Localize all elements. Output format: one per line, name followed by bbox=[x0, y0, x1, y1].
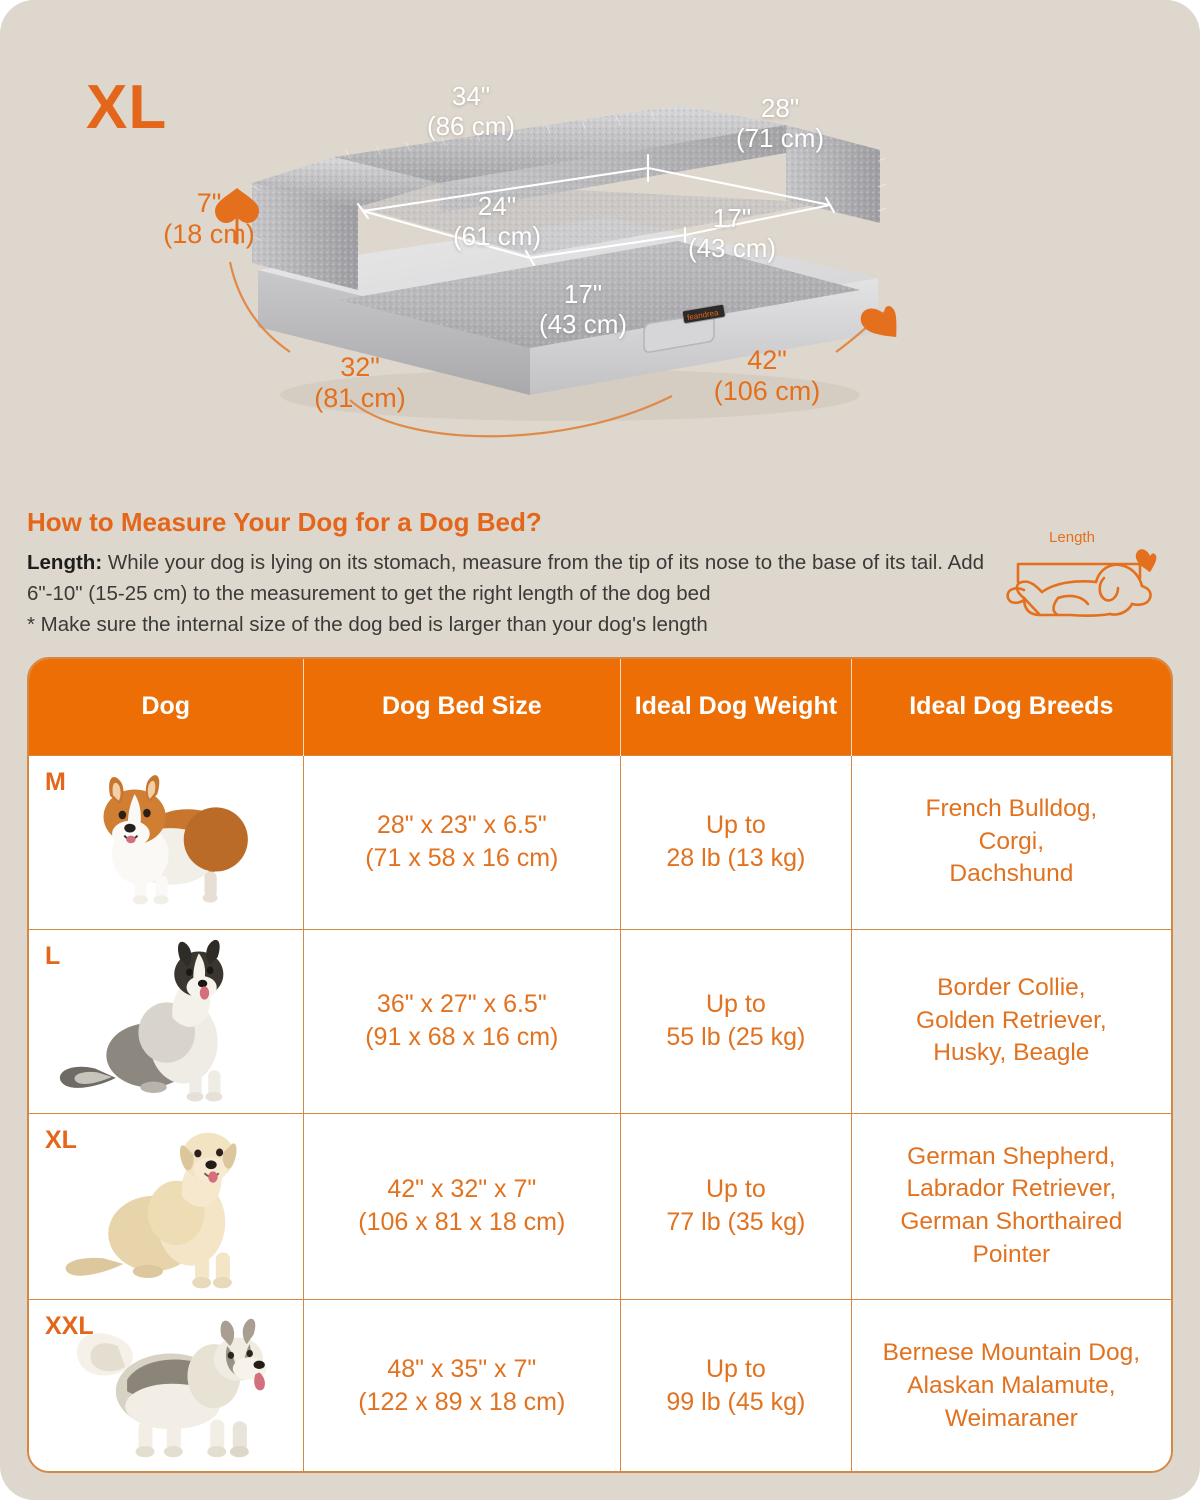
weight-value-xl: 77 lb (35 kg) bbox=[621, 1206, 851, 1239]
dimension-width-cm: (106 cm) bbox=[714, 376, 821, 406]
bed-size-in-xxl: 48" x 35" x 7" bbox=[304, 1353, 620, 1386]
table-row: XXL bbox=[29, 1299, 1171, 1473]
table-row: XL bbox=[29, 1113, 1171, 1299]
breeds-cell-m: French Bulldog, Corgi, Dachshund bbox=[851, 755, 1171, 929]
dimension-width: 42" (106 cm) bbox=[672, 345, 862, 407]
size-table: Dog Dog Bed Size Ideal Dog Weight Ideal … bbox=[29, 659, 1171, 1473]
weight-cell-l: Up to 55 lb (25 kg) bbox=[621, 929, 852, 1113]
bed-size-cm-xl: (106 x 81 x 18 cm) bbox=[304, 1206, 620, 1239]
dimension-height: 7" (18 cm) bbox=[143, 188, 275, 250]
dimension-top-left: 34" (86 cm) bbox=[396, 82, 546, 141]
hero-section: XL bbox=[0, 0, 1200, 480]
measure-length-label: Length: bbox=[27, 551, 102, 574]
dimension-depth: 32" (81 cm) bbox=[290, 352, 430, 414]
dimension-inner-right: 17" (43 cm) bbox=[652, 204, 812, 263]
dog-cell-xl: XL bbox=[29, 1113, 303, 1299]
dimension-inner-front-inch: 17" bbox=[564, 279, 602, 309]
bed-size-in-l: 36" x 27" x 6.5" bbox=[304, 988, 620, 1021]
measure-title: How to Measure Your Dog for a Dog Bed? bbox=[27, 507, 542, 538]
dimension-inner-left-cm: (61 cm) bbox=[453, 221, 541, 251]
dimension-width-inch: 42" bbox=[747, 345, 787, 375]
size-badge: XL bbox=[86, 72, 167, 143]
bed-size-cell-xxl: 48" x 35" x 7" (122 x 89 x 18 cm) bbox=[303, 1299, 620, 1473]
dimension-top-left-cm: (86 cm) bbox=[427, 111, 515, 141]
dimension-depth-inch: 32" bbox=[340, 352, 380, 382]
breeds-cell-l: Border Collie, Golden Retriever, Husky, … bbox=[851, 929, 1171, 1113]
bed-size-in-m: 28" x 23" x 6.5" bbox=[304, 809, 620, 842]
table-body: M bbox=[29, 755, 1171, 1473]
bed-size-cm-m: (71 x 58 x 16 cm) bbox=[304, 842, 620, 875]
dog-photo-border-collie bbox=[29, 926, 303, 1109]
dog-photo-corgi bbox=[29, 752, 303, 925]
infographic-page: XL bbox=[0, 0, 1200, 1500]
dimension-inner-front: 17" (43 cm) bbox=[500, 280, 666, 339]
dimension-top-right-cm: (71 cm) bbox=[736, 123, 824, 153]
breeds-cell-xxl: Bernese Mountain Dog, Alaskan Malamute, … bbox=[851, 1299, 1171, 1473]
dog-length-diagram: Length bbox=[1000, 520, 1165, 640]
weight-cell-xl: Up to 77 lb (35 kg) bbox=[621, 1113, 852, 1299]
dimension-inner-left: 24" (61 cm) bbox=[414, 192, 580, 251]
size-chart-table: Dog Dog Bed Size Ideal Dog Weight Ideal … bbox=[27, 657, 1173, 1473]
measure-note: * Make sure the internal size of the dog… bbox=[27, 610, 987, 641]
bed-size-cell-l: 36" x 27" x 6.5" (91 x 68 x 16 cm) bbox=[303, 929, 620, 1113]
dog-cell-l: L bbox=[29, 929, 303, 1113]
dimension-top-right-inch: 28" bbox=[761, 93, 799, 123]
dimension-top-right: 28" (71 cm) bbox=[700, 94, 860, 153]
bed-size-cell-m: 28" x 23" x 6.5" (71 x 58 x 16 cm) bbox=[303, 755, 620, 929]
breeds-cell-xl: German Shepherd, Labrador Retriever, Ger… bbox=[851, 1113, 1171, 1299]
column-header-dog: Dog bbox=[29, 659, 303, 755]
dimension-depth-cm: (81 cm) bbox=[314, 383, 406, 413]
table-row: M bbox=[29, 755, 1171, 929]
measure-paragraph: While your dog is lying on its stomach, … bbox=[27, 551, 984, 605]
table-header-row: Dog Dog Bed Size Ideal Dog Weight Ideal … bbox=[29, 659, 1171, 755]
dimension-inner-right-cm: (43 cm) bbox=[688, 233, 776, 263]
weight-value-l: 55 lb (25 kg) bbox=[621, 1021, 851, 1054]
measure-body: Length: While your dog is lying on its s… bbox=[27, 548, 987, 640]
table-head: Dog Dog Bed Size Ideal Dog Weight Ideal … bbox=[29, 659, 1171, 755]
column-header-weight: Ideal Dog Weight bbox=[621, 659, 852, 755]
bed-size-cm-xxl: (122 x 89 x 18 cm) bbox=[304, 1386, 620, 1419]
dog-photo-malamute bbox=[29, 1296, 303, 1470]
dog-photo-labrador bbox=[29, 1110, 303, 1295]
weight-prefix-m: Up to bbox=[621, 809, 851, 842]
dog-cell-xxl: XXL bbox=[29, 1299, 303, 1473]
bed-size-cell-xl: 42" x 32" x 7" (106 x 81 x 18 cm) bbox=[303, 1113, 620, 1299]
bed-size-in-xl: 42" x 32" x 7" bbox=[304, 1173, 620, 1206]
length-sketch-label: Length bbox=[1049, 529, 1095, 546]
bed-size-cm-l: (91 x 68 x 16 cm) bbox=[304, 1021, 620, 1054]
dimension-height-cm: (18 cm) bbox=[163, 219, 255, 249]
weight-prefix-xl: Up to bbox=[621, 1173, 851, 1206]
column-header-breeds: Ideal Dog Breeds bbox=[851, 659, 1171, 755]
table-row: L bbox=[29, 929, 1171, 1113]
weight-prefix-l: Up to bbox=[621, 988, 851, 1021]
dimension-height-inch: 7" bbox=[197, 188, 222, 218]
dimension-top-left-inch: 34" bbox=[452, 81, 490, 111]
column-header-bed-size: Dog Bed Size bbox=[303, 659, 620, 755]
dimension-inner-right-inch: 17" bbox=[713, 203, 751, 233]
dimension-inner-left-inch: 24" bbox=[478, 191, 516, 221]
weight-value-m: 28 lb (13 kg) bbox=[621, 842, 851, 875]
weight-cell-xxl: Up to 99 lb (45 kg) bbox=[621, 1299, 852, 1473]
dimension-inner-front-cm: (43 cm) bbox=[539, 309, 627, 339]
weight-value-xxl: 99 lb (45 kg) bbox=[621, 1386, 851, 1419]
weight-prefix-xxl: Up to bbox=[621, 1353, 851, 1386]
weight-cell-m: Up to 28 lb (13 kg) bbox=[621, 755, 852, 929]
dog-cell-m: M bbox=[29, 755, 303, 929]
